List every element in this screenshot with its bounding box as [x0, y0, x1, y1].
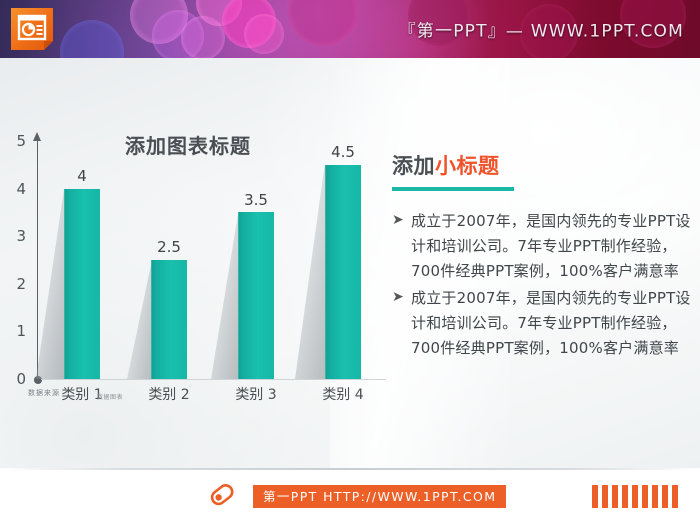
y-tick-label: 4	[0, 180, 26, 198]
footer-stripes	[592, 485, 678, 508]
x-tick-label-3: 类别 3	[216, 384, 296, 404]
bokeh-circle	[244, 14, 284, 54]
sub-title-prefix: 添加	[392, 154, 435, 178]
bullet-text: 成立于2007年，是国内领先的专业PPT设计和培训公司。7年专业PPT制作经验，…	[411, 212, 691, 280]
bullet-text: 成立于2007年，是国内领先的专业PPT设计和培训公司。7年专业PPT制作经验，…	[411, 289, 691, 357]
bokeh-circle	[181, 16, 225, 58]
bar-value-label: 4.5	[313, 143, 373, 161]
bar-category-2[interactable]	[151, 260, 187, 379]
bokeh-circle	[196, 0, 242, 26]
footer-stripe	[632, 485, 638, 508]
bokeh-circle	[288, 0, 358, 46]
chart-source-note: 数据来源	[28, 388, 60, 398]
y-axis-line	[37, 140, 38, 380]
y-tick-label: 3	[0, 227, 26, 245]
x-tick-label-2: 类别 2	[129, 384, 209, 404]
sub-title-accent: 小标题	[435, 154, 500, 178]
footer-divider	[0, 468, 700, 470]
chart-title: 添加图表标题	[125, 130, 251, 159]
sub-title-underline	[392, 187, 514, 191]
bokeh-circle	[152, 10, 204, 58]
right-text-panel: 添加小标题 ➤ 成立于2007年，是国内领先的专业PPT设计和培训公司。7年专业…	[392, 150, 692, 363]
footer-stripe	[652, 485, 658, 508]
bar-value-label: 2.5	[139, 238, 199, 256]
x-tick-label-4: 类别 4	[303, 384, 383, 404]
bokeh-circle	[60, 20, 124, 58]
bar-value-label: 3.5	[226, 191, 286, 209]
y-tick-label: 2	[0, 275, 26, 293]
bar-category-3[interactable]	[238, 212, 274, 379]
arrow-bullet-icon: ➤	[392, 285, 404, 310]
footer-stripe	[672, 485, 678, 508]
arrow-bullet-icon: ➤	[392, 208, 404, 233]
footer-stripe	[612, 485, 618, 508]
footer-url-label: 第一PPT HTTP://WWW.1PPT.COM	[253, 485, 506, 508]
footer-stripe	[622, 485, 628, 508]
bokeh-circle	[222, 0, 276, 48]
bullet-list: ➤ 成立于2007年，是国内领先的专业PPT设计和培训公司。7年专业PPT制作经…	[392, 209, 692, 361]
footer-stripe	[592, 485, 598, 508]
footer-stripe	[602, 485, 608, 508]
y-tick-label: 1	[0, 322, 26, 340]
bar-value-label: 4	[52, 167, 112, 185]
bokeh-circle	[130, 0, 188, 44]
chart-source-note-secondary: 数据图表	[97, 392, 123, 401]
powerpoint-document-icon	[10, 7, 54, 51]
bar-chart: 添加图表标题 5 4 3 2 1 0 4 2.5 3.5	[0, 130, 390, 420]
list-item: ➤ 成立于2007年，是国内领先的专业PPT设计和培训公司。7年专业PPT制作经…	[392, 286, 692, 361]
x-axis-line	[41, 379, 386, 380]
footer-stripe	[662, 485, 668, 508]
bar-category-4[interactable]	[325, 165, 361, 379]
header-site-title: 『第一PPT』— WWW.1PPT.COM	[399, 17, 684, 42]
header-banner: 『第一PPT』— WWW.1PPT.COM	[0, 0, 700, 58]
slide-canvas: 『第一PPT』— WWW.1PPT.COM 添加图表标题 5 4 3 2 1 0…	[0, 0, 700, 525]
footer-stripe	[642, 485, 648, 508]
sub-title: 添加小标题	[392, 150, 692, 180]
pen-marker-icon	[207, 482, 241, 512]
y-tick-label: 0	[0, 370, 26, 388]
bar-category-1[interactable]	[64, 189, 100, 379]
y-tick-label: 5	[0, 132, 26, 150]
list-item: ➤ 成立于2007年，是国内领先的专业PPT设计和培训公司。7年专业PPT制作经…	[392, 209, 692, 284]
